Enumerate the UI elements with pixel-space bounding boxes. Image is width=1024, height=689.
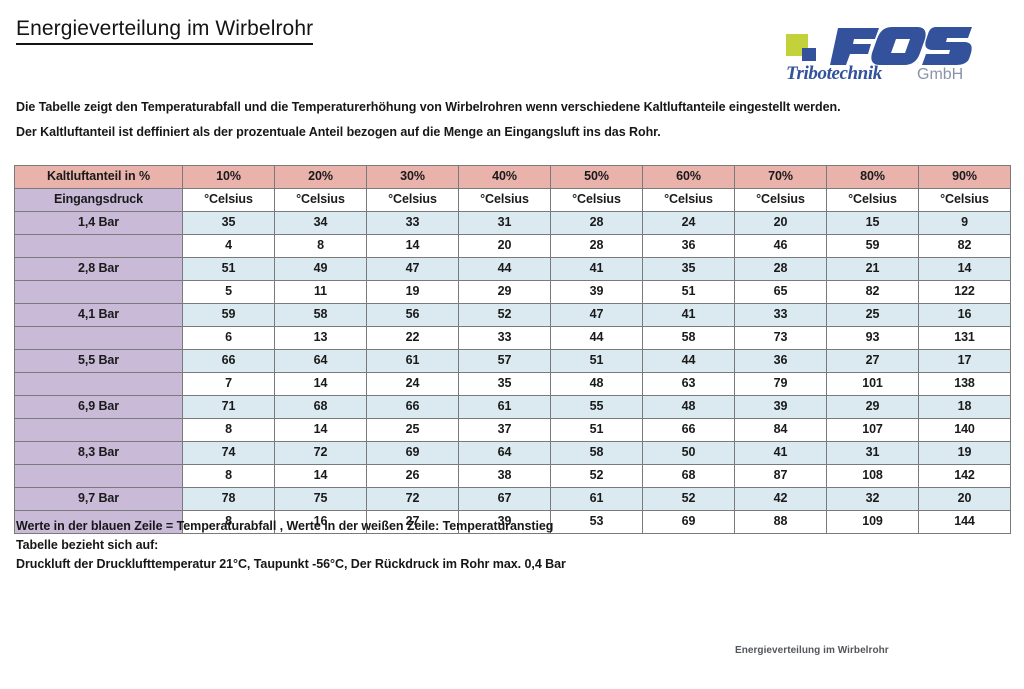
temp-rise-cell: 8 <box>275 235 367 258</box>
temp-rise-cell: 122 <box>919 281 1011 304</box>
temp-rise-cell: 39 <box>551 281 643 304</box>
temp-drop-cell: 44 <box>643 350 735 373</box>
temp-drop-cell: 52 <box>643 488 735 511</box>
unit-header-7: °Celsius <box>735 189 827 212</box>
temp-drop-cell: 20 <box>735 212 827 235</box>
pressure-label-7: 9,7 Bar <box>15 488 183 511</box>
table-corner-header: Kaltluftanteil in % <box>15 166 183 189</box>
temp-drop-cell: 61 <box>367 350 459 373</box>
temp-drop-cell: 47 <box>367 258 459 281</box>
temp-drop-cell: 41 <box>551 258 643 281</box>
temp-rise-cell: 14 <box>275 373 367 396</box>
temp-drop-cell: 78 <box>183 488 275 511</box>
temp-rise-cell: 8 <box>183 419 275 442</box>
unit-header-4: °Celsius <box>459 189 551 212</box>
temp-drop-cell: 69 <box>367 442 459 465</box>
temp-rise-cell: 63 <box>643 373 735 396</box>
column-header-8: 80% <box>827 166 919 189</box>
temp-drop-cell: 34 <box>275 212 367 235</box>
temp-rise-cell: 11 <box>275 281 367 304</box>
table-row: 5,5 Bar666461575144362717 <box>15 350 1011 373</box>
temp-drop-cell: 61 <box>551 488 643 511</box>
column-header-3: 30% <box>367 166 459 189</box>
temp-rise-cell: 66 <box>643 419 735 442</box>
temp-rise-cell: 19 <box>367 281 459 304</box>
table-row: 4814202836465982 <box>15 235 1011 258</box>
temp-rise-cell: 24 <box>367 373 459 396</box>
temp-drop-cell: 72 <box>275 442 367 465</box>
temp-drop-cell: 49 <box>275 258 367 281</box>
intro-block: Die Tabelle zeigt den Temperaturabfall u… <box>16 98 1016 148</box>
temp-rise-cell: 36 <box>643 235 735 258</box>
temp-drop-cell: 33 <box>735 304 827 327</box>
temp-rise-cell: 38 <box>459 465 551 488</box>
row-header-label: Eingangsdruck <box>15 189 183 212</box>
temp-rise-cell: 68 <box>643 465 735 488</box>
temp-rise-cell: 14 <box>367 235 459 258</box>
table-row: 4,1 Bar595856524741332516 <box>15 304 1011 327</box>
temp-drop-cell: 36 <box>735 350 827 373</box>
unit-header-2: °Celsius <box>275 189 367 212</box>
temp-drop-cell: 9 <box>919 212 1011 235</box>
table-row: 6,9 Bar716866615548392918 <box>15 396 1011 419</box>
temp-drop-cell: 17 <box>919 350 1011 373</box>
temp-rise-cell: 48 <box>551 373 643 396</box>
table-row: 8142638526887108142 <box>15 465 1011 488</box>
fos-wordmark <box>830 27 972 65</box>
temp-drop-cell: 57 <box>459 350 551 373</box>
page-footer: Energieverteilung im Wirbelrohr <box>735 645 889 656</box>
fos-square-mark <box>786 34 816 61</box>
temp-rise-cell: 107 <box>827 419 919 442</box>
temp-drop-cell: 35 <box>643 258 735 281</box>
column-header-1: 10% <box>183 166 275 189</box>
temp-rise-cell: 14 <box>275 419 367 442</box>
temp-drop-cell: 15 <box>827 212 919 235</box>
temp-rise-cell: 26 <box>367 465 459 488</box>
temp-drop-cell: 24 <box>643 212 735 235</box>
temp-drop-cell: 64 <box>275 350 367 373</box>
temp-drop-cell: 52 <box>459 304 551 327</box>
logo-legal-form: GmbH <box>917 66 963 83</box>
table-header-row-unit: Eingangsdruck°Celsius°Celsius°Celsius°Ce… <box>15 189 1011 212</box>
temp-rise-cell: 13 <box>275 327 367 350</box>
pressure-label-spacer-4 <box>15 373 183 396</box>
table-row: 7142435486379101138 <box>15 373 1011 396</box>
temp-rise-cell: 59 <box>827 235 919 258</box>
temp-rise-cell: 87 <box>735 465 827 488</box>
page-title: Energieverteilung im Wirbelrohr <box>16 17 313 45</box>
column-header-2: 20% <box>275 166 367 189</box>
temp-rise-cell: 46 <box>735 235 827 258</box>
unit-header-9: °Celsius <box>919 189 1011 212</box>
column-header-6: 60% <box>643 166 735 189</box>
temp-rise-cell: 6 <box>183 327 275 350</box>
temp-drop-cell: 55 <box>551 396 643 419</box>
temp-drop-cell: 25 <box>827 304 919 327</box>
note-legend: Werte in der blauen Zeile = Temperaturab… <box>16 517 1006 536</box>
unit-header-3: °Celsius <box>367 189 459 212</box>
temp-drop-cell: 47 <box>551 304 643 327</box>
temp-rise-cell: 79 <box>735 373 827 396</box>
temp-rise-cell: 65 <box>735 281 827 304</box>
temp-drop-cell: 21 <box>827 258 919 281</box>
temp-drop-cell: 28 <box>735 258 827 281</box>
temp-drop-cell: 33 <box>367 212 459 235</box>
temp-rise-cell: 82 <box>827 281 919 304</box>
energy-distribution-table: Kaltluftanteil in %10%20%30%40%50%60%70%… <box>14 165 1011 534</box>
temp-drop-cell: 67 <box>459 488 551 511</box>
temp-rise-cell: 4 <box>183 235 275 258</box>
temp-rise-cell: 73 <box>735 327 827 350</box>
temp-drop-cell: 44 <box>459 258 551 281</box>
column-header-9: 90% <box>919 166 1011 189</box>
temp-drop-cell: 68 <box>275 396 367 419</box>
pressure-label-2: 2,8 Bar <box>15 258 183 281</box>
temp-drop-cell: 41 <box>643 304 735 327</box>
temp-drop-cell: 39 <box>735 396 827 419</box>
pressure-label-spacer-2 <box>15 281 183 304</box>
pressure-label-spacer-1 <box>15 235 183 258</box>
temp-rise-cell: 142 <box>919 465 1011 488</box>
pressure-label-spacer-6 <box>15 465 183 488</box>
temp-rise-cell: 7 <box>183 373 275 396</box>
table-row: 8,3 Bar747269645850413119 <box>15 442 1011 465</box>
temp-rise-cell: 8 <box>183 465 275 488</box>
table-row: 613223344587393131 <box>15 327 1011 350</box>
pressure-label-5: 6,9 Bar <box>15 396 183 419</box>
unit-header-6: °Celsius <box>643 189 735 212</box>
temp-drop-cell: 35 <box>183 212 275 235</box>
notes-block: Werte in der blauen Zeile = Temperaturab… <box>16 517 1006 573</box>
temp-drop-cell: 64 <box>459 442 551 465</box>
intro-line-1: Die Tabelle zeigt den Temperaturabfall u… <box>16 98 1016 117</box>
temp-rise-cell: 101 <box>827 373 919 396</box>
temp-drop-cell: 19 <box>919 442 1011 465</box>
pressure-label-3: 4,1 Bar <box>15 304 183 327</box>
temp-drop-cell: 18 <box>919 396 1011 419</box>
table-row: 8142537516684107140 <box>15 419 1011 442</box>
note-basis-detail: Druckluft der Drucklufttemperatur 21°C, … <box>16 555 1006 574</box>
temp-rise-cell: 44 <box>551 327 643 350</box>
temp-drop-cell: 20 <box>919 488 1011 511</box>
temp-drop-cell: 51 <box>183 258 275 281</box>
temp-drop-cell: 31 <box>459 212 551 235</box>
temp-drop-cell: 16 <box>919 304 1011 327</box>
temp-drop-cell: 48 <box>643 396 735 419</box>
temp-drop-cell: 56 <box>367 304 459 327</box>
unit-header-1: °Celsius <box>183 189 275 212</box>
temp-rise-cell: 52 <box>551 465 643 488</box>
note-basis-label: Tabelle bezieht sich auf: <box>16 536 1006 555</box>
temp-drop-cell: 51 <box>551 350 643 373</box>
pressure-label-4: 5,5 Bar <box>15 350 183 373</box>
temp-rise-cell: 51 <box>551 419 643 442</box>
table-row: 2,8 Bar514947444135282114 <box>15 258 1011 281</box>
temp-drop-cell: 31 <box>827 442 919 465</box>
temp-rise-cell: 140 <box>919 419 1011 442</box>
column-header-4: 40% <box>459 166 551 189</box>
temp-rise-cell: 35 <box>459 373 551 396</box>
temp-drop-cell: 61 <box>459 396 551 419</box>
table-row: 511192939516582122 <box>15 281 1011 304</box>
temp-drop-cell: 58 <box>551 442 643 465</box>
table-header-row-percent: Kaltluftanteil in %10%20%30%40%50%60%70%… <box>15 166 1011 189</box>
temp-rise-cell: 14 <box>275 465 367 488</box>
logo-subbrand: Tribotechnik <box>786 63 883 84</box>
temp-rise-cell: 138 <box>919 373 1011 396</box>
pressure-label-6: 8,3 Bar <box>15 442 183 465</box>
column-header-5: 50% <box>551 166 643 189</box>
temp-drop-cell: 42 <box>735 488 827 511</box>
temp-rise-cell: 131 <box>919 327 1011 350</box>
temp-rise-cell: 5 <box>183 281 275 304</box>
brand-logo: Tribotechnik GmbH <box>784 22 984 84</box>
table-row: 9,7 Bar787572676152423220 <box>15 488 1011 511</box>
temp-drop-cell: 66 <box>183 350 275 373</box>
temp-drop-cell: 59 <box>183 304 275 327</box>
temp-drop-cell: 75 <box>275 488 367 511</box>
temp-drop-cell: 74 <box>183 442 275 465</box>
fos-logo-svg: Tribotechnik GmbH <box>784 22 984 84</box>
temp-drop-cell: 28 <box>551 212 643 235</box>
energy-table-container: Kaltluftanteil in %10%20%30%40%50%60%70%… <box>14 165 1010 534</box>
temp-rise-cell: 93 <box>827 327 919 350</box>
unit-header-8: °Celsius <box>827 189 919 212</box>
temp-rise-cell: 22 <box>367 327 459 350</box>
column-header-7: 70% <box>735 166 827 189</box>
pressure-label-spacer-5 <box>15 419 183 442</box>
temp-rise-cell: 37 <box>459 419 551 442</box>
pressure-label-spacer-3 <box>15 327 183 350</box>
temp-drop-cell: 66 <box>367 396 459 419</box>
temp-drop-cell: 32 <box>827 488 919 511</box>
temp-rise-cell: 58 <box>643 327 735 350</box>
pressure-label-1: 1,4 Bar <box>15 212 183 235</box>
temp-drop-cell: 72 <box>367 488 459 511</box>
temp-rise-cell: 82 <box>919 235 1011 258</box>
temp-drop-cell: 41 <box>735 442 827 465</box>
temp-rise-cell: 108 <box>827 465 919 488</box>
temp-drop-cell: 14 <box>919 258 1011 281</box>
unit-header-5: °Celsius <box>551 189 643 212</box>
temp-drop-cell: 58 <box>275 304 367 327</box>
temp-drop-cell: 27 <box>827 350 919 373</box>
temp-rise-cell: 51 <box>643 281 735 304</box>
temp-drop-cell: 71 <box>183 396 275 419</box>
temp-rise-cell: 84 <box>735 419 827 442</box>
temp-rise-cell: 20 <box>459 235 551 258</box>
temp-drop-cell: 50 <box>643 442 735 465</box>
temp-rise-cell: 28 <box>551 235 643 258</box>
temp-rise-cell: 33 <box>459 327 551 350</box>
temp-rise-cell: 25 <box>367 419 459 442</box>
intro-line-2: Der Kaltluftanteil ist deffiniert als de… <box>16 123 1016 142</box>
table-row: 1,4 Bar35343331282420159 <box>15 212 1011 235</box>
temp-rise-cell: 29 <box>459 281 551 304</box>
temp-drop-cell: 29 <box>827 396 919 419</box>
